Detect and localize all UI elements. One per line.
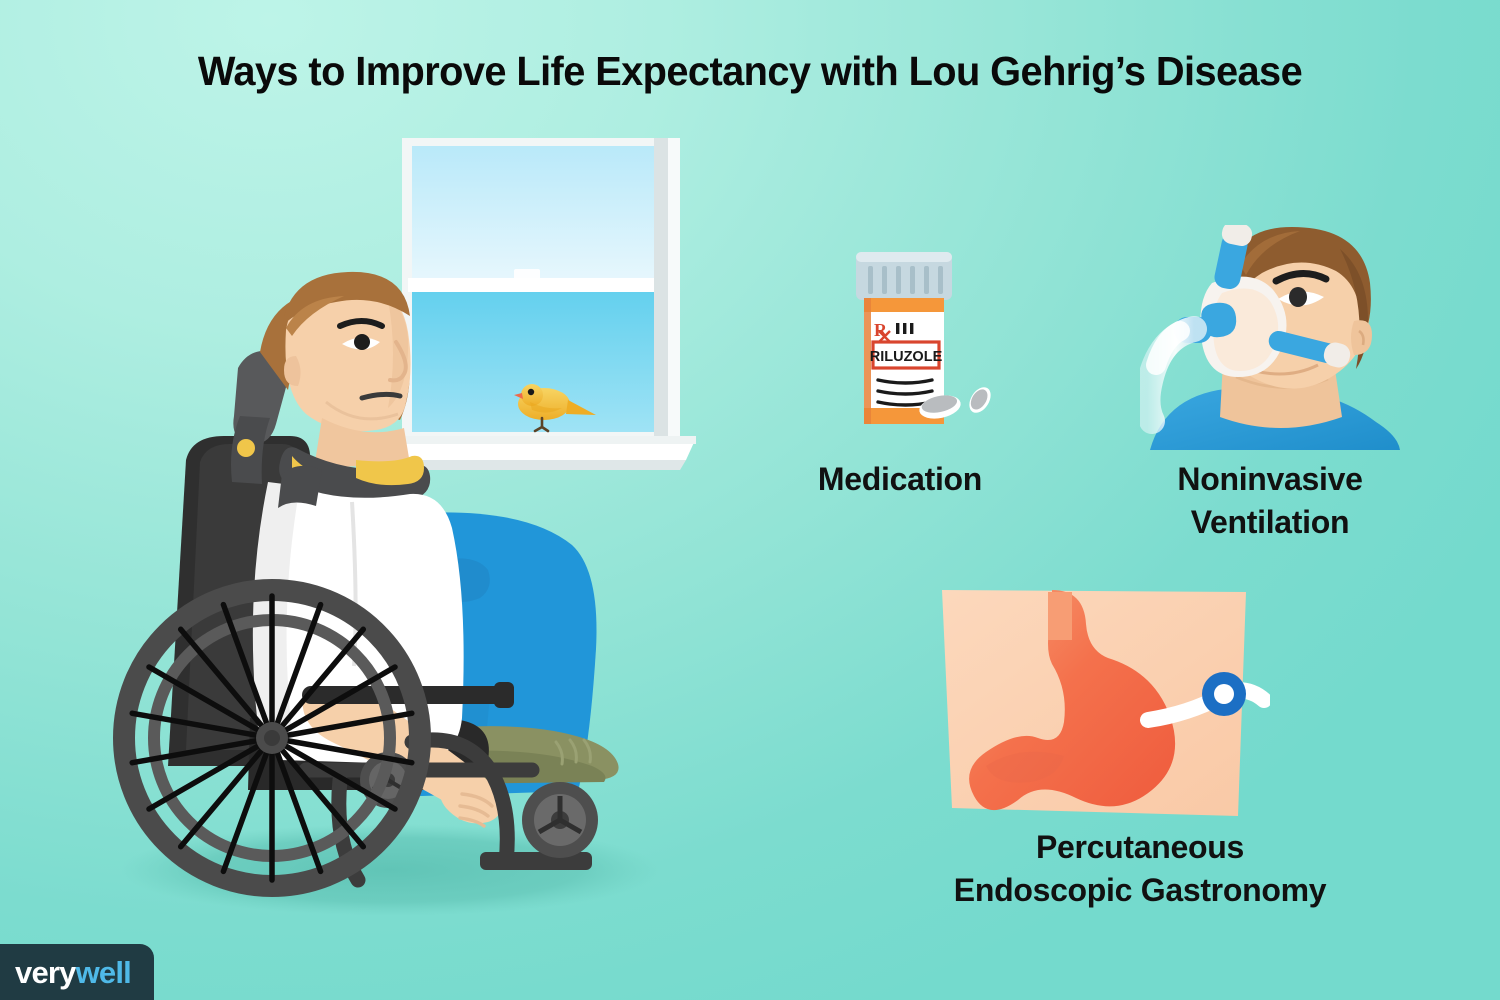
ventilation-scene <box>1140 225 1400 450</box>
wheelchair-illustration <box>90 130 730 920</box>
medication-scene: R RILUZOLE <box>830 230 1030 450</box>
wheelchair-scene <box>90 130 730 920</box>
peg-scene <box>930 580 1270 830</box>
caption-ventilation: Noninvasive Ventilation <box>1110 458 1430 544</box>
bottle-cap <box>856 252 952 300</box>
tube-port <box>1202 672 1246 716</box>
ventilation-illustration <box>1140 225 1400 450</box>
peg-illustration <box>930 580 1270 830</box>
caption-peg-line1: Percutaneous <box>880 826 1400 869</box>
logo-text-very: very <box>15 955 76 991</box>
window-group <box>390 138 696 470</box>
page-title: Ways to Improve Life Expectancy with Lou… <box>23 48 1478 95</box>
caster-wheel-front <box>522 782 598 858</box>
logo-text-well: well <box>76 955 131 991</box>
caption-peg-line2: Endoscopic Gastronomy <box>880 869 1400 912</box>
caption-ventilation-line2: Ventilation <box>1110 501 1430 544</box>
caption-medication: Medication <box>740 458 1060 501</box>
dose-ticks <box>896 323 913 334</box>
pill-bottle-illustration: R RILUZOLE <box>830 230 1030 450</box>
infographic-canvas: Ways to Improve Life Expectancy with Lou… <box>0 0 1500 1000</box>
drug-label: RILUZOLE <box>870 342 943 368</box>
drug-name-text: RILUZOLE <box>870 349 943 365</box>
caption-peg: Percutaneous Endoscopic Gastronomy <box>880 826 1400 912</box>
caption-ventilation-line1: Noninvasive <box>1110 458 1430 501</box>
verywell-logo[interactable]: verywell <box>0 944 154 1000</box>
